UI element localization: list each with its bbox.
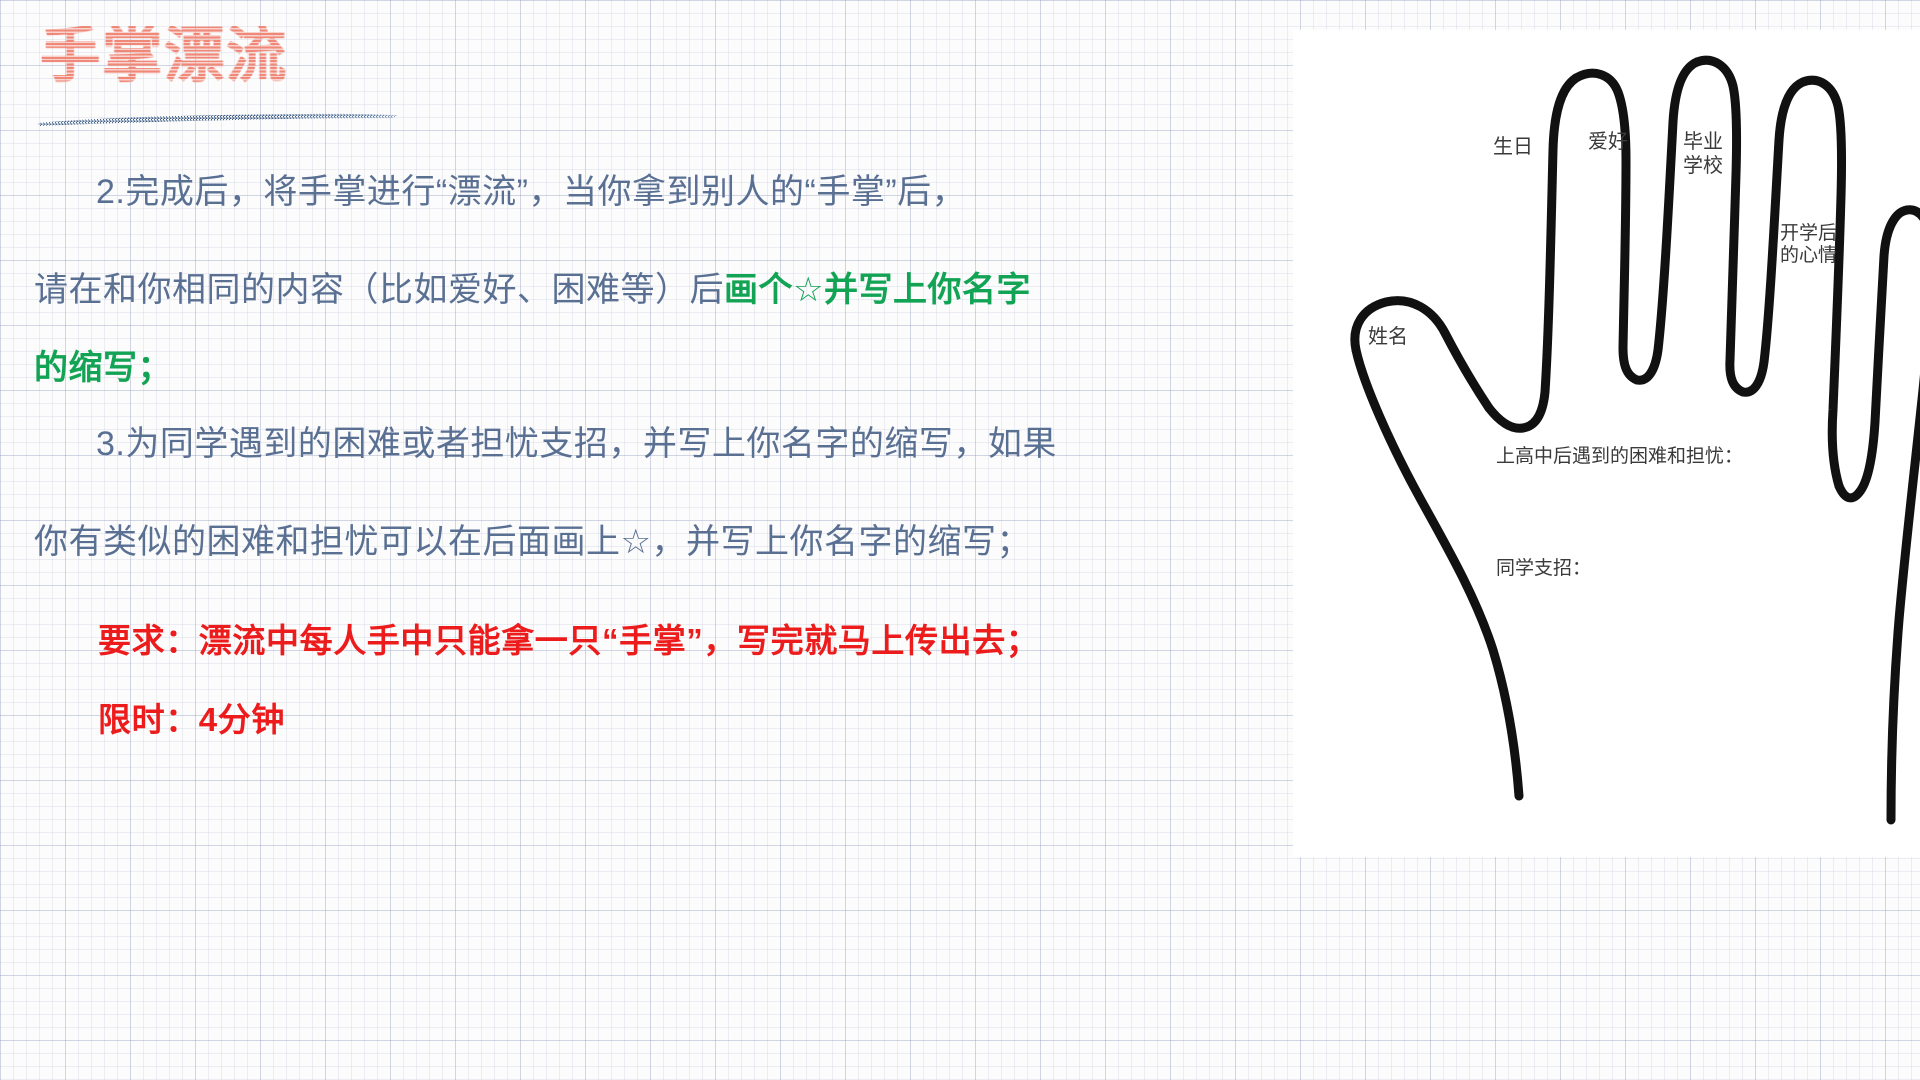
instruction-text: 请在和你相同的内容（比如爱好、困难等）后 bbox=[34, 271, 724, 309]
instruction-text: 你有类似的困难和担忧可以在后面画上 bbox=[34, 523, 621, 561]
hand-label-birthday: 生日 bbox=[1493, 135, 1533, 159]
hand-label-hobby: 爱好 bbox=[1588, 130, 1628, 154]
instruction-paragraph-3-line-1: 3.为同学遇到的困难或者担忧支招，并写上你名字的缩写，如果 bbox=[96, 422, 1057, 466]
hand-label-graduation-school-line2: 学校 bbox=[1683, 154, 1723, 178]
instruction-paragraph-2-line-1: 2.完成后，将手掌进行“漂流”，当你拿到别人的“手掌”后， bbox=[96, 170, 966, 214]
star-outline-icon: ☆ bbox=[793, 271, 824, 309]
hand-label-graduation-school: 毕业 学校 bbox=[1683, 130, 1723, 177]
hand-label-difficulties-and-worries: 上高中后遇到的困难和担忧： bbox=[1496, 445, 1743, 467]
instruction-paragraph-2-line-3: 的缩写； bbox=[34, 346, 172, 390]
instruction-paragraph-2-line-2: 请在和你相同的内容（比如爱好、困难等）后画个☆并写上你名字 bbox=[34, 268, 1031, 312]
hand-label-mood-after-school-starts: 开学后 的心情 bbox=[1780, 222, 1837, 267]
requirement-rule-text: 要求：漂流中每人手中只能拿一只“手掌”，写完就马上传出去； bbox=[98, 614, 1039, 662]
requirement-time-limit-text: 限时：4分钟 bbox=[98, 693, 285, 741]
highlight-text-write-initials: 并写上你名字 bbox=[824, 271, 1031, 309]
hand-label-classmate-advice: 同学支招： bbox=[1496, 557, 1591, 579]
title-underline-stroke bbox=[32, 110, 402, 128]
instruction-text: 3.为同学遇到的困难或者担忧支招，并写上你名字的缩写，如果 bbox=[96, 425, 1057, 463]
hand-label-mood-line1: 开学后 bbox=[1780, 222, 1837, 244]
instruction-paragraph-3-line-2: 你有类似的困难和担忧可以在后面画上☆，并写上你名字的缩写； bbox=[34, 520, 1031, 564]
slide-canvas: 手掌漂流 bbox=[0, 0, 1920, 1080]
hand-label-name: 姓名 bbox=[1368, 325, 1408, 349]
instruction-text: ，并写上你名字的缩写； bbox=[651, 523, 1031, 561]
star-outline-icon: ☆ bbox=[621, 523, 652, 561]
highlight-text-draw-star: 画个 bbox=[724, 271, 793, 309]
hand-label-graduation-school-line1: 毕业 bbox=[1683, 130, 1723, 154]
highlight-text-abbreviation: 的缩写； bbox=[34, 349, 172, 387]
instruction-text: 2.完成后，将手掌进行“漂流”，当你拿到别人的“手掌”后， bbox=[96, 173, 966, 211]
hand-label-mood-line2: 的心情 bbox=[1780, 244, 1837, 266]
page-title: 手掌漂流 bbox=[40, 26, 288, 86]
hand-outline-drawing bbox=[1293, 30, 1920, 857]
hand-diagram-panel: 生日 爱好 毕业 学校 开学后 的心情 姓名 上高中后遇到的困难和担忧： 同学支… bbox=[1293, 30, 1920, 857]
title-block: 手掌漂流 bbox=[40, 18, 460, 138]
